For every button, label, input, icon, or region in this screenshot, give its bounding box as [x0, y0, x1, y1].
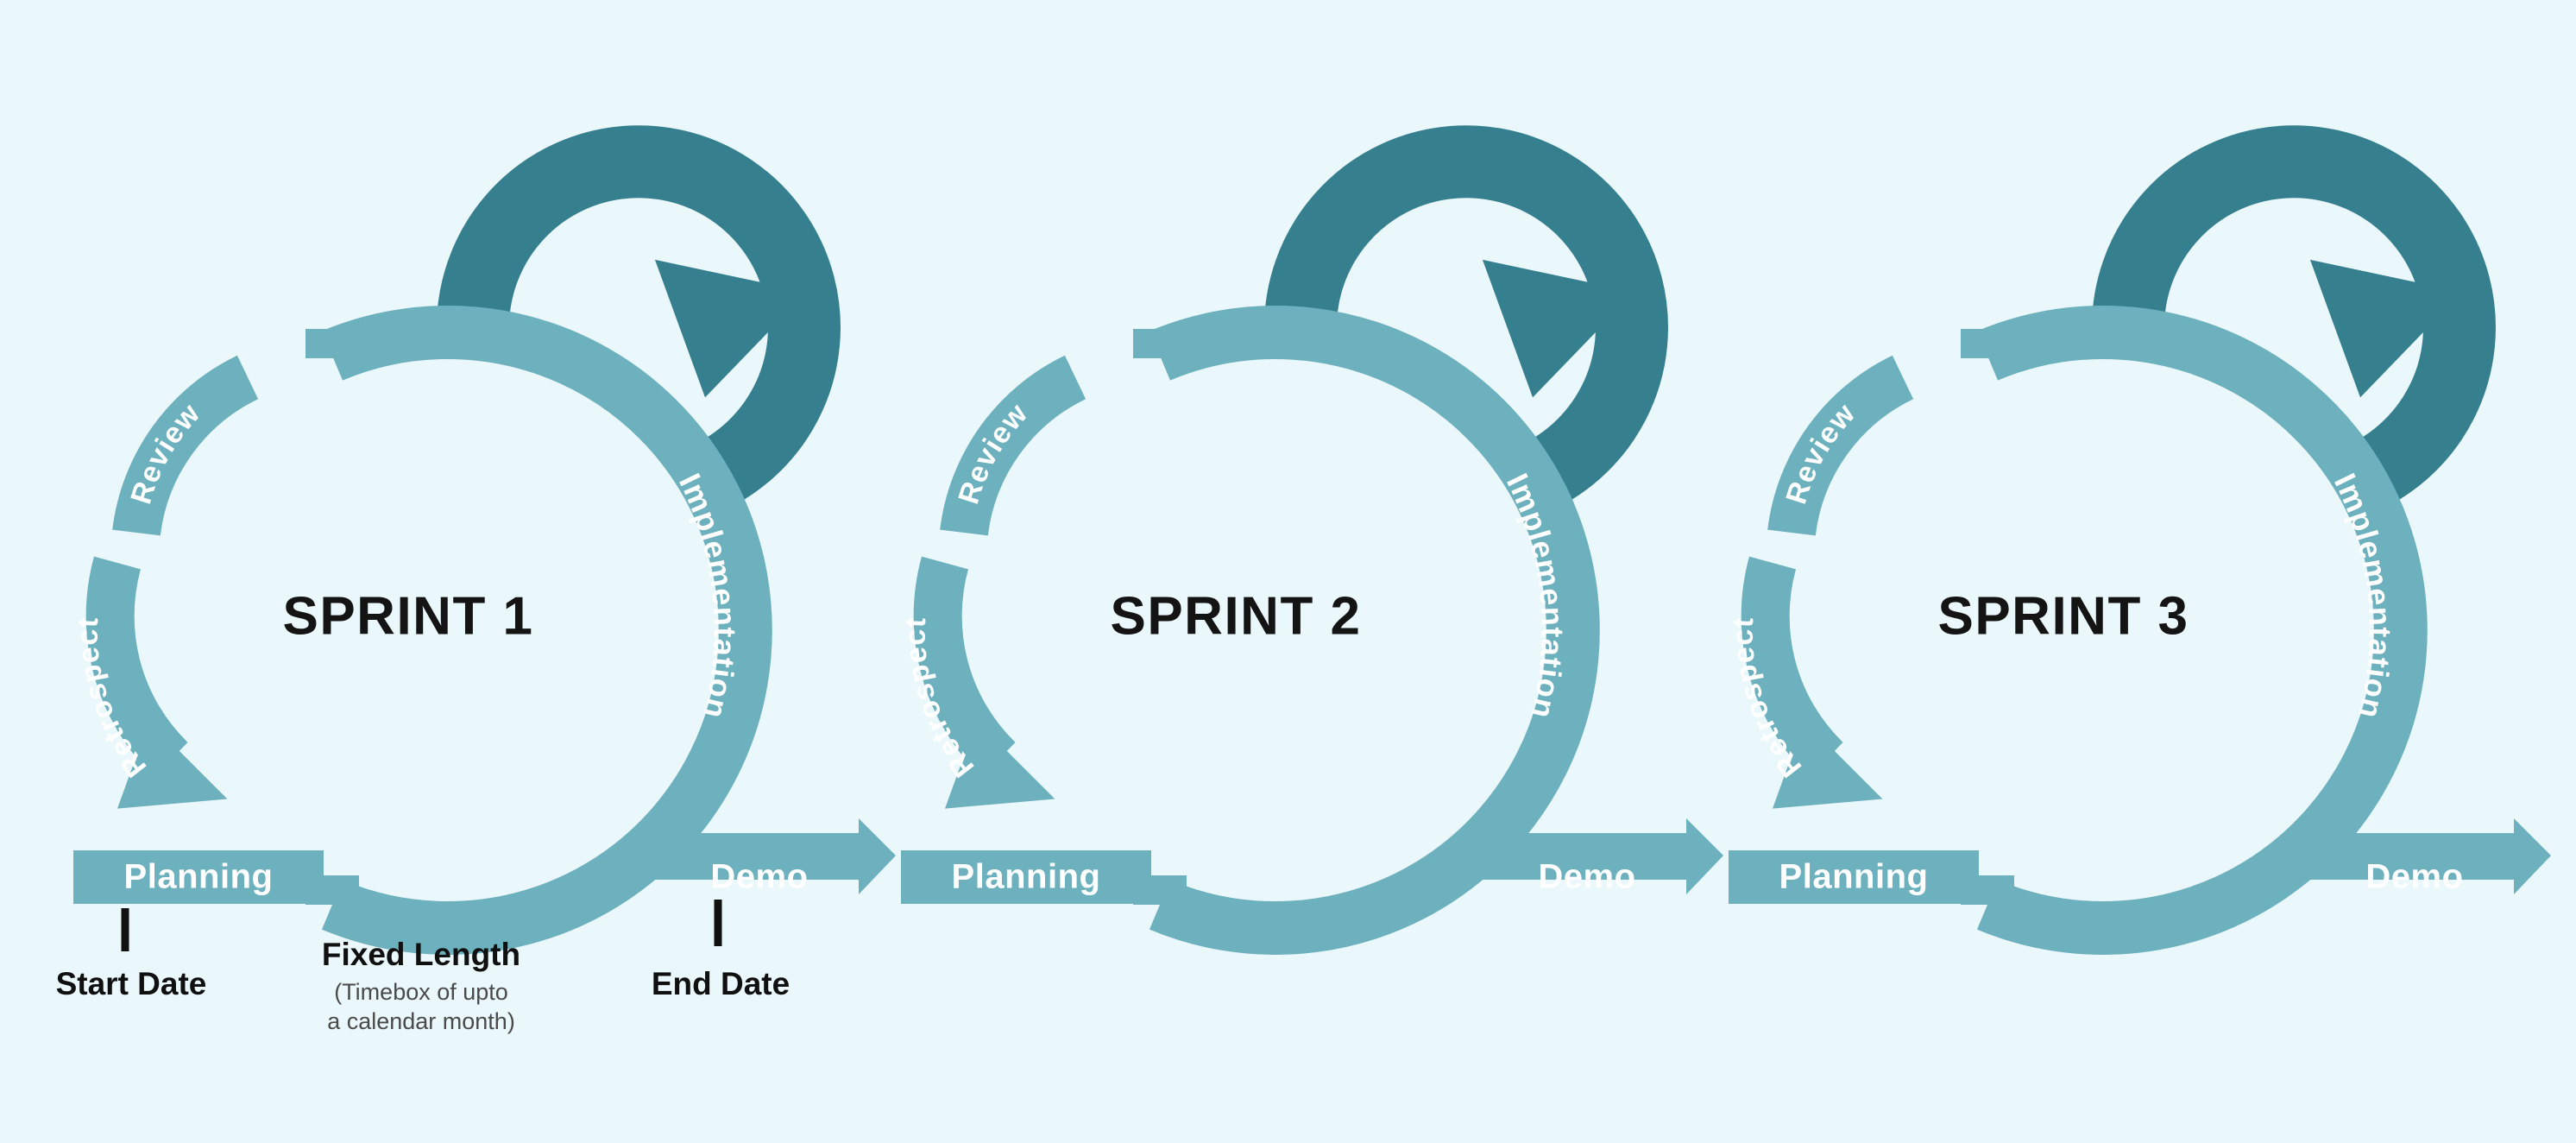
- end-date-label: End Date: [652, 966, 790, 1001]
- sprint-2-title: SPRINT 2: [1110, 586, 1361, 646]
- fixed-length-annotation: Fixed Length (Timebox of upto a calendar…: [322, 937, 520, 1034]
- start-date-label: Start Date: [56, 966, 207, 1001]
- sprint-3-planning-box[interactable]: Planning: [1729, 850, 1979, 904]
- sprint-3-planning-label: Planning: [1779, 858, 1929, 896]
- sprint-1-title: SPRINT 1: [282, 586, 533, 646]
- sprint-3-title: SPRINT 3: [1937, 586, 2189, 646]
- sprint-cycle-diagram: Implementation Review Retrospect Plannin…: [0, 0, 2576, 1143]
- fixed-length-sub-1: (Timebox of upto: [334, 979, 508, 1005]
- sprint-1-planning-box[interactable]: Planning: [73, 850, 324, 904]
- sprint-2-planning-label: Planning: [952, 858, 1101, 896]
- fixed-length-label: Fixed Length: [322, 937, 520, 972]
- sprint-2-planning-box[interactable]: Planning: [901, 850, 1151, 904]
- sprint-1-planning-label: Planning: [124, 858, 274, 896]
- sprint-1-demo-label: Demo: [710, 858, 808, 896]
- diagram-canvas: Implementation Review Retrospect Plannin…: [0, 0, 2576, 1143]
- sprint-3-demo-label: Demo: [2365, 858, 2463, 896]
- sprint-2-demo-label: Demo: [1538, 858, 1635, 896]
- fixed-length-sub-2: a calendar month): [327, 1008, 515, 1034]
